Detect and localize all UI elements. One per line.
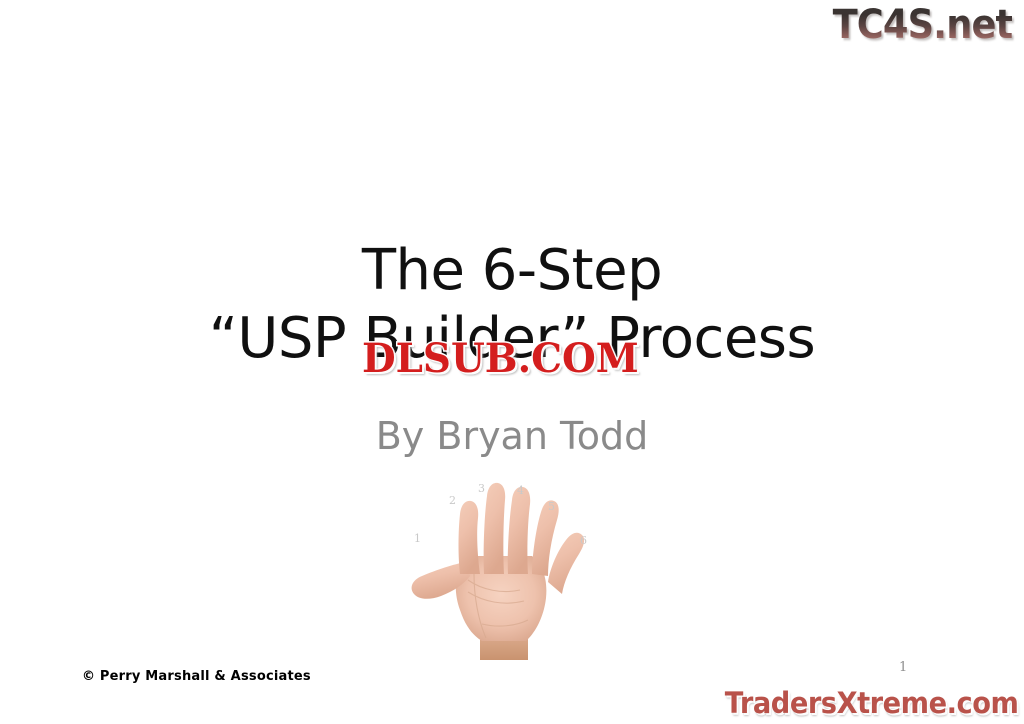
tradersxtreme-watermark: TradersXtreme.com — [724, 686, 1018, 720]
hand-finger-3 — [484, 483, 506, 574]
tc4s-logo: TC4S.net — [832, 2, 1012, 48]
copyright-notice: © Perry Marshall & Associates — [82, 669, 311, 684]
finger-label-3: 3 — [478, 482, 485, 495]
dlsub-watermark: DLSUB.COM — [362, 337, 639, 381]
subtitle-author: By Bryan Todd — [0, 413, 1024, 459]
page-number: 1 — [899, 660, 907, 675]
hand-illustration-svg: 1 2 3 4 5 6 — [408, 470, 620, 660]
dlsub-watermark-text: DLSUB.COM — [362, 335, 639, 382]
finger-label-2: 2 — [449, 494, 456, 507]
hand-finger-6 — [548, 533, 584, 594]
hand-finger-2 — [459, 501, 481, 574]
title-line-1: The 6-Step — [0, 237, 1024, 305]
slide-canvas: TC4S.net The 6-Step “USP Builder” Proces… — [0, 0, 1024, 724]
finger-label-6: 6 — [580, 534, 587, 547]
finger-label-4: 4 — [517, 484, 524, 497]
hand-finger-4 — [508, 487, 530, 574]
finger-label-1: 1 — [414, 532, 421, 545]
six-fingered-hand-image: 1 2 3 4 5 6 — [408, 470, 620, 660]
finger-label-5: 5 — [548, 500, 555, 513]
